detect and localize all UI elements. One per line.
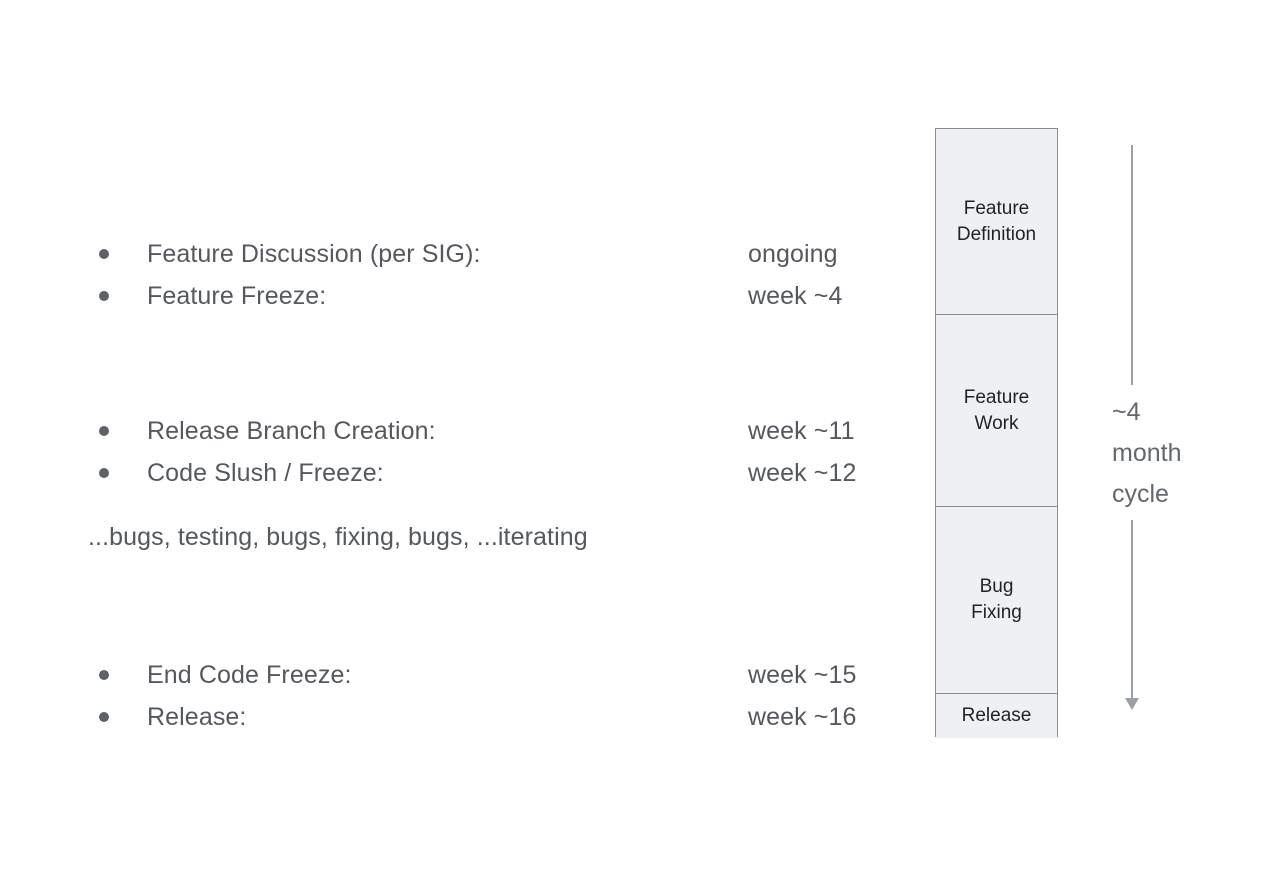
bullet-icon [99, 291, 109, 301]
bullet-icon [99, 426, 109, 436]
schedule-row: Code Slush / Freeze: week ~12 [0, 452, 930, 494]
schedule-item-label: Feature Discussion (per SIG): [147, 233, 481, 275]
schedule-item-value: week ~16 [748, 696, 857, 738]
bullet-icon [99, 249, 109, 259]
schedule-row: End Code Freeze: week ~15 [0, 654, 930, 696]
schedule-item-value: week ~11 [748, 410, 855, 452]
schedule-item-label: Release Branch Creation: [147, 410, 436, 452]
iteration-note: ...bugs, testing, bugs, fixing, bugs, ..… [88, 523, 588, 552]
schedule-item-label: Release: [147, 696, 246, 738]
arrow-line-upper-icon [1131, 145, 1133, 385]
phase-bug-fixing: BugFixing [936, 506, 1057, 693]
schedule-item-label: End Code Freeze: [147, 654, 352, 696]
schedule-item-value: week ~12 [748, 452, 857, 494]
schedule-group-1: Feature Discussion (per SIG): ongoing Fe… [0, 233, 930, 317]
schedule-row: Release Branch Creation: week ~11 [0, 410, 930, 452]
cycle-duration-label: ~4monthcycle [1112, 392, 1181, 515]
bullet-icon [99, 468, 109, 478]
phase-feature-work: FeatureWork [936, 314, 1057, 506]
bullet-icon [99, 712, 109, 722]
schedule-row: Feature Freeze: week ~4 [0, 275, 930, 317]
phase-feature-definition: FeatureDefinition [936, 129, 1057, 314]
phase-label: BugFixing [971, 574, 1022, 625]
schedule-item-value: week ~15 [748, 654, 857, 696]
schedule-item-value: week ~4 [748, 275, 843, 317]
schedule-item-label: Feature Freeze: [147, 275, 326, 317]
release-phase-bar: FeatureDefinition FeatureWork BugFixing … [935, 128, 1058, 737]
schedule-item-label: Code Slush / Freeze: [147, 452, 384, 494]
cycle-duration-annotation: ~4monthcycle [1090, 120, 1280, 740]
bullet-icon [99, 670, 109, 680]
phase-release: Release [936, 693, 1057, 738]
arrow-head-icon [1125, 698, 1139, 710]
release-schedule: Feature Discussion (per SIG): ongoing Fe… [0, 0, 930, 895]
schedule-group-3: End Code Freeze: week ~15 Release: week … [0, 654, 930, 738]
slide-canvas: Feature Discussion (per SIG): ongoing Fe… [0, 0, 1280, 895]
phase-label: FeatureWork [964, 385, 1029, 436]
schedule-row: Feature Discussion (per SIG): ongoing [0, 233, 930, 275]
phase-label: FeatureDefinition [957, 196, 1036, 247]
schedule-row: Release: week ~16 [0, 696, 930, 738]
schedule-group-2: Release Branch Creation: week ~11 Code S… [0, 410, 930, 494]
phase-label: Release [962, 703, 1032, 729]
arrow-line-lower-icon [1131, 520, 1133, 698]
schedule-item-value: ongoing [748, 233, 838, 275]
